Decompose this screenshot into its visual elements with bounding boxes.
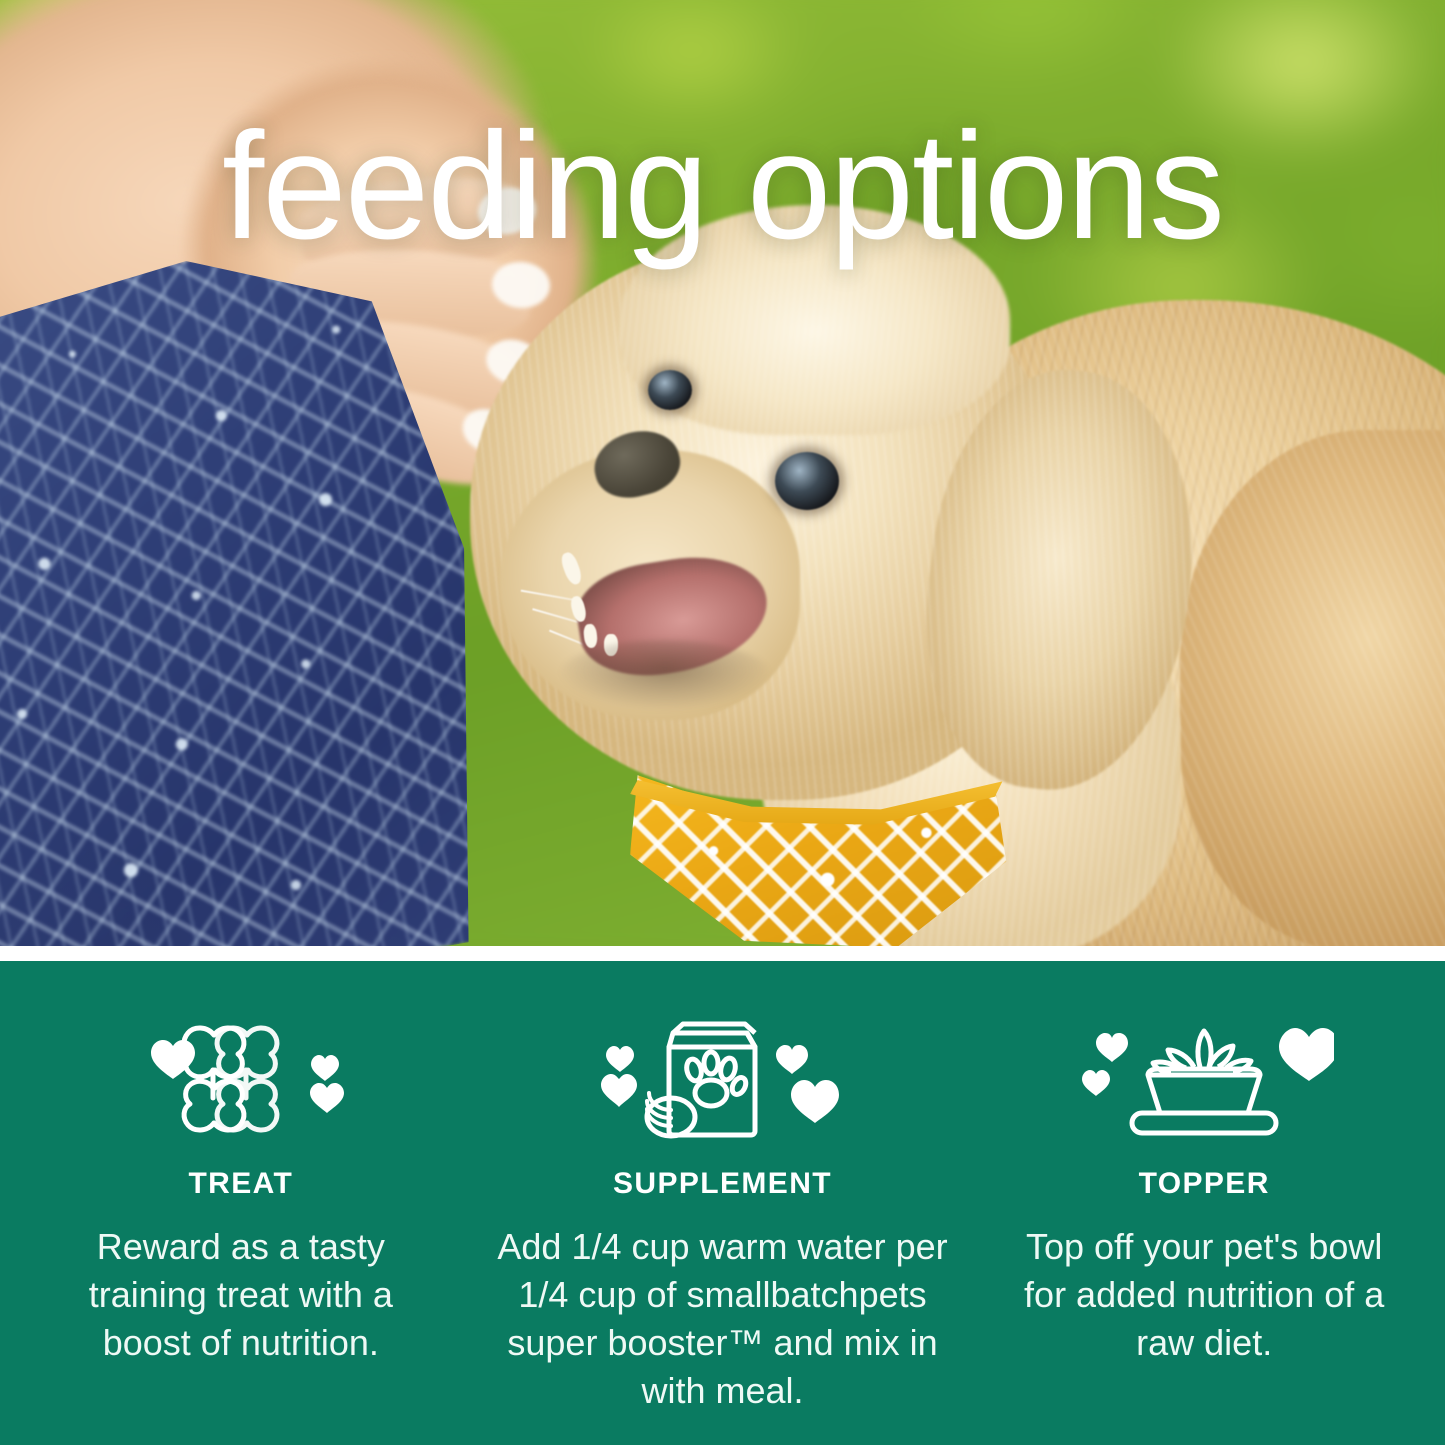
feeding-option-supplement: SUPPLEMENT Add 1/4 cup warm water per 1/…	[482, 961, 964, 1445]
feeding-option-treat: TREAT Reward as a tasty training treat w…	[0, 961, 482, 1445]
dog-chin-shadow	[560, 640, 770, 710]
feeding-option-topper: TOPPER Top off your pet's bowl for added…	[963, 961, 1445, 1445]
hero-photo: feeding options	[0, 0, 1445, 946]
feeding-option-title: SUPPLEMENT	[613, 1167, 832, 1201]
dog-eye-left	[648, 370, 692, 410]
feeding-options-columns: TREAT Reward as a tasty training treat w…	[0, 961, 1445, 1445]
feeding-option-title: TREAT	[188, 1167, 293, 1201]
feeding-option-description: Top off your pet's bowl for added nutrit…	[1004, 1223, 1404, 1367]
feeding-options-panel: TREAT Reward as a tasty training treat w…	[0, 961, 1445, 1445]
pet-bowl-hearts-icon	[1074, 1009, 1334, 1149]
food-bag-paw-hearts-icon	[593, 1009, 853, 1149]
dog-bone-hearts-icon	[126, 1009, 356, 1149]
dog-eye-right	[775, 452, 839, 510]
page-title: feeding options	[0, 110, 1445, 262]
feeding-option-description: Add 1/4 cup warm water per 1/4 cup of sm…	[493, 1223, 953, 1415]
feeding-options-infographic: feeding options	[0, 0, 1445, 1445]
feeding-option-description: Reward as a tasty training treat with a …	[71, 1223, 411, 1367]
feeding-option-title: TOPPER	[1139, 1167, 1270, 1201]
